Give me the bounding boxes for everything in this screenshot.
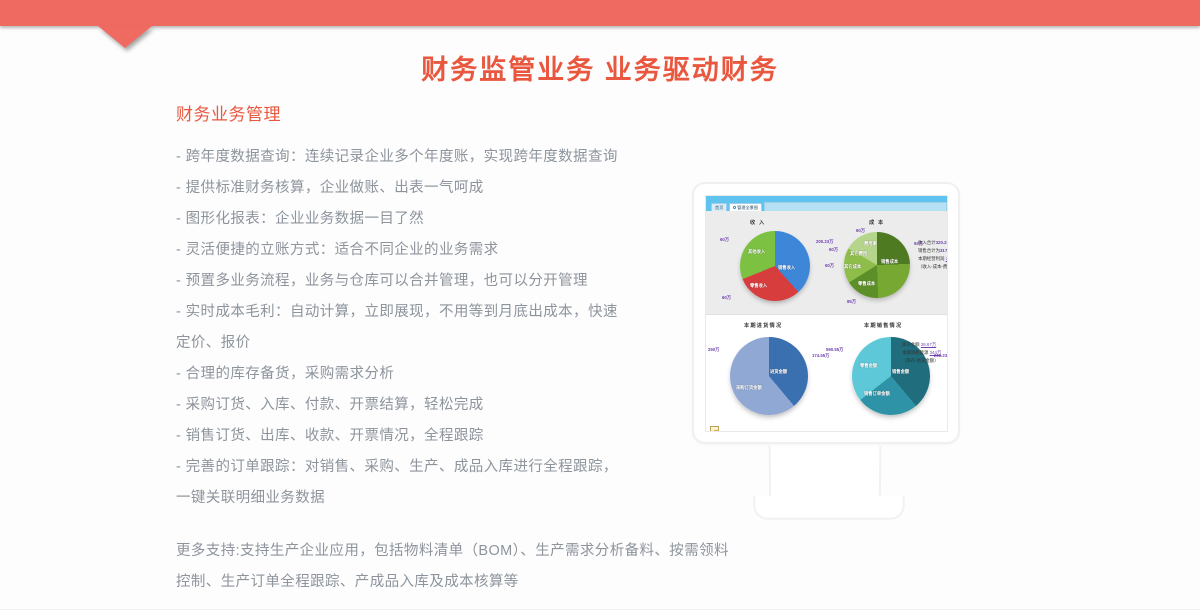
list-item: - 预置多业务流程，业务与仓库可以合并管理，也可以分开管理 (176, 266, 681, 297)
tab-strip-filler (764, 202, 947, 211)
summary-value: 28.67万 (921, 342, 936, 347)
list-item: - 采购订货、入库、付款、开票结算，轻松完成 (176, 390, 681, 421)
summary-value: 320.23万 (936, 240, 948, 245)
summary-value: 344万 (930, 350, 942, 355)
chart-title-sales: 本期销售情况 (864, 322, 902, 329)
summary-label: 销售合计为 (918, 248, 940, 253)
summary-label: 本期消耗能源 (902, 350, 928, 355)
chart-title-purchase: 本期进货情况 (744, 322, 782, 329)
pie-value-label: 290万 (708, 347, 719, 353)
list-item: - 灵活便捷的立账方式：适合不同企业的业务需求 (176, 235, 681, 266)
summary-label: 收入合计 (918, 240, 936, 245)
content-column: 财务业务管理 - 跨年度数据查询：连续记录企业多个年度账，实现跨年度数据查询 -… (176, 100, 681, 598)
section-heading: 财务业务管理 (176, 100, 681, 125)
summary-line: （库存-进货金额） (902, 357, 941, 365)
summary-income: 收入合计320.23万 销售合计为317万 本期经营利润 3.23万 （收入-成… (918, 239, 948, 271)
pie-slice-label: 费用率 (864, 241, 877, 247)
monitor-illustration: 首页 管理全景图 收 入 销售收入 零售收入 其他收入 200.23万 60万 … (692, 182, 960, 444)
panel-income-cost: 收 入 销售收入 零售收入 其他收入 200.23万 60万 60万 成 本 销… (706, 211, 947, 315)
pie-slice-label: 零售成本 (858, 281, 875, 287)
top-ribbon-bar (0, 0, 1200, 26)
pie-slice-label: 零售金额 (860, 363, 877, 369)
summary-value: 317万 (940, 248, 948, 253)
chart-title-income: 收 入 (750, 219, 765, 226)
list-item: - 实时成本毛利：自动计算，立即展现，不用等到月底出成本，快速 定价、报价 (176, 297, 681, 359)
ribbon-pointer-triangle (98, 26, 152, 48)
tab-strip: 首页 管理全景图 (706, 196, 947, 211)
pie-value-label: 60万 (720, 237, 729, 243)
pie-slice-label: 进货金额 (770, 369, 787, 375)
pie-value-label: 60万 (856, 228, 865, 234)
summary-line: （收入-成本-费用） (918, 263, 948, 271)
pie-value-label: 174.55万 (812, 353, 829, 359)
summary-line: 销售合计为317万 (918, 247, 948, 255)
summary-stock: 库存金额 28.67万 本期消耗能源 344万 （库存-进货金额） (902, 341, 941, 365)
pie-slice-label: 其它费用 (850, 251, 867, 257)
panel-purchase-sales: 本期进货情况 进货金额 采购订货金额 174.55万 290万 本期销售情况 销… (706, 315, 947, 432)
pie-value-label: 200.23万 (816, 239, 833, 245)
list-item: - 销售订货、出库、收款、开票情况，全程跟踪 (176, 421, 681, 452)
list-item: - 完善的订单跟踪：对销售、采购、生产、成品入库进行全程跟踪， 一键关联明细业务… (176, 452, 681, 514)
summary-line: 收入合计320.23万 (918, 239, 948, 247)
pie-chart-income (740, 231, 810, 301)
app-screenshot: 首页 管理全景图 收 入 销售收入 零售收入 其他收入 200.23万 60万 … (705, 195, 948, 432)
list-item: - 提供标准财务核算，企业做账、出表一气呵成 (176, 173, 681, 204)
summary-line: 本期经营利润 3.23万 (918, 255, 948, 263)
pie-slice-label: 销售金额 (892, 369, 909, 375)
list-item: - 图形化报表：企业业务数据一目了然 (176, 204, 681, 235)
list-item: - 合理的库存备货，采购需求分析 (176, 359, 681, 390)
page-title: 财务监管业务 业务驱动财务 (0, 48, 1200, 87)
pie-slice-label: 销售成本 (881, 259, 898, 265)
pie-slice-label: 零售收入 (750, 283, 767, 289)
summary-label: 本期经营利润 (918, 256, 944, 261)
pie-value-label: 60万 (722, 295, 731, 301)
monitor-stand (769, 446, 882, 516)
pie-slice-label: 其它成本 (844, 264, 861, 270)
pie-value-label: 85万 (847, 299, 856, 305)
pie-value-label: 590.55万 (826, 347, 843, 353)
summary-line: 库存金额 28.67万 (902, 341, 941, 349)
more-support-text: 更多支持:支持生产企业应用，包括物料清单（BOM）、生产需求分析备料、按需领料控… (176, 536, 736, 598)
list-item: - 跨年度数据查询：连续记录企业多个年度账，实现跨年度数据查询 (176, 142, 681, 173)
chart-title-cost: 成 本 (869, 219, 884, 226)
summary-value: 3.23万 (946, 256, 948, 261)
pie-slice-label: 其他收入 (748, 249, 765, 255)
summary-label: 库存金额 (902, 342, 920, 347)
pie-value-label: 60万 (825, 263, 834, 269)
tab-home-label: 首页 (715, 205, 723, 210)
tab-home[interactable]: 首页 (711, 203, 727, 211)
tab-management-overview-label: 管理全景图 (737, 205, 758, 210)
summary-line: 本期消耗能源 344万 (902, 349, 941, 357)
pie-slice-label: 销售订单金额 (864, 391, 890, 397)
pie-chart-purchase (730, 337, 808, 415)
pie-slice-label: 采购订货金额 (736, 385, 762, 391)
pie-value-label: 60万 (829, 247, 838, 253)
radio-dot-icon (733, 206, 735, 208)
tab-management-overview[interactable]: 管理全景图 (729, 203, 762, 211)
certificate-badge-icon (710, 426, 719, 432)
monitor-bezel: 首页 管理全景图 收 入 销售收入 零售收入 其他收入 200.23万 60万 … (692, 182, 960, 444)
pie-slice-label: 销售收入 (778, 265, 795, 271)
